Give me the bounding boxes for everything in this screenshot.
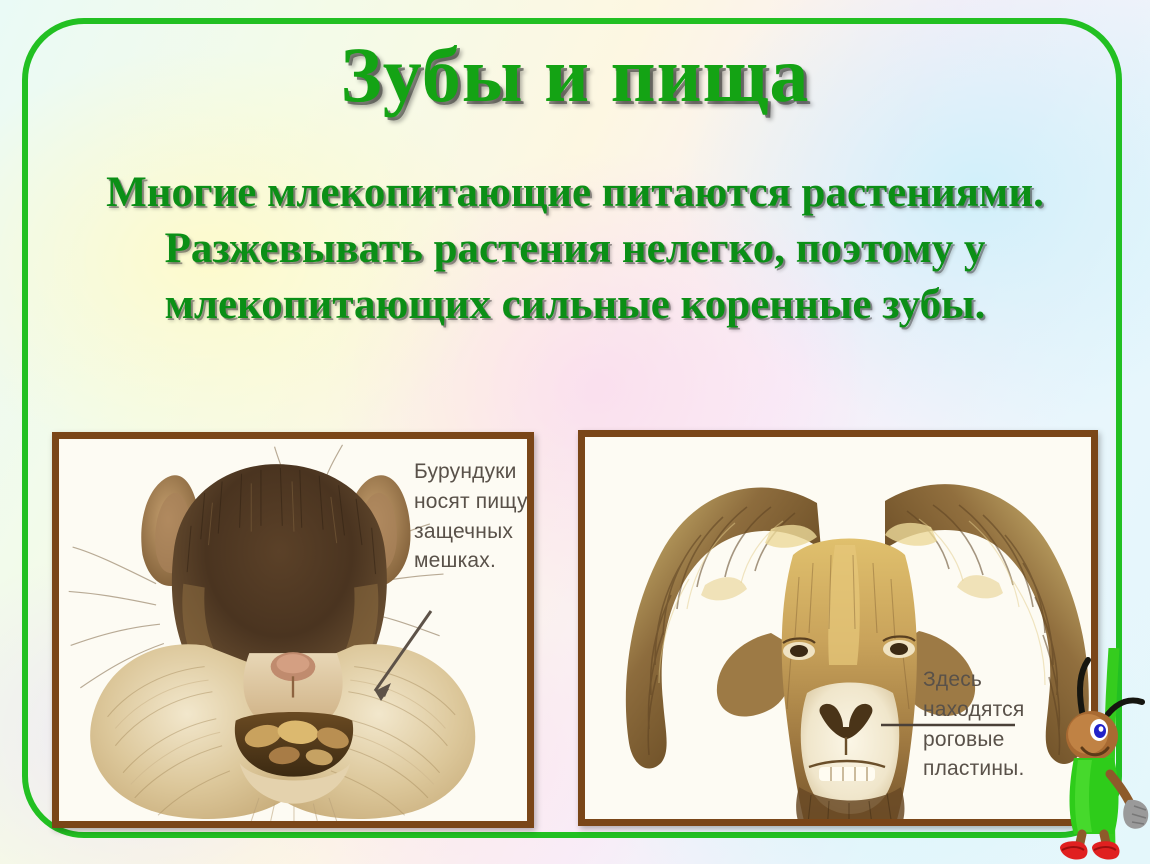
figure-chipmunk: Бурундуки носят пищу в защечных мешках.: [52, 432, 534, 828]
ram-caption: Здесь находятся роговые пластины.: [923, 665, 1024, 784]
chipmunk-image: Бурундуки носят пищу в защечных мешках.: [59, 439, 527, 821]
page-title: Зубы и пища: [0, 36, 1150, 114]
chipmunk-caption: Бурундуки носят пищу в защечных мешках.: [414, 457, 527, 576]
ram-image: Здесь находятся роговые пластины.: [585, 437, 1091, 819]
ant-mascot-icon: [1052, 648, 1150, 864]
slide-canvas: Зубы и пища Многие млекопитающие питаютс…: [0, 0, 1150, 864]
figure-ram: Здесь находятся роговые пластины.: [578, 430, 1098, 826]
body-paragraph: Многие млекопитающие питаются растениями…: [26, 165, 1124, 333]
